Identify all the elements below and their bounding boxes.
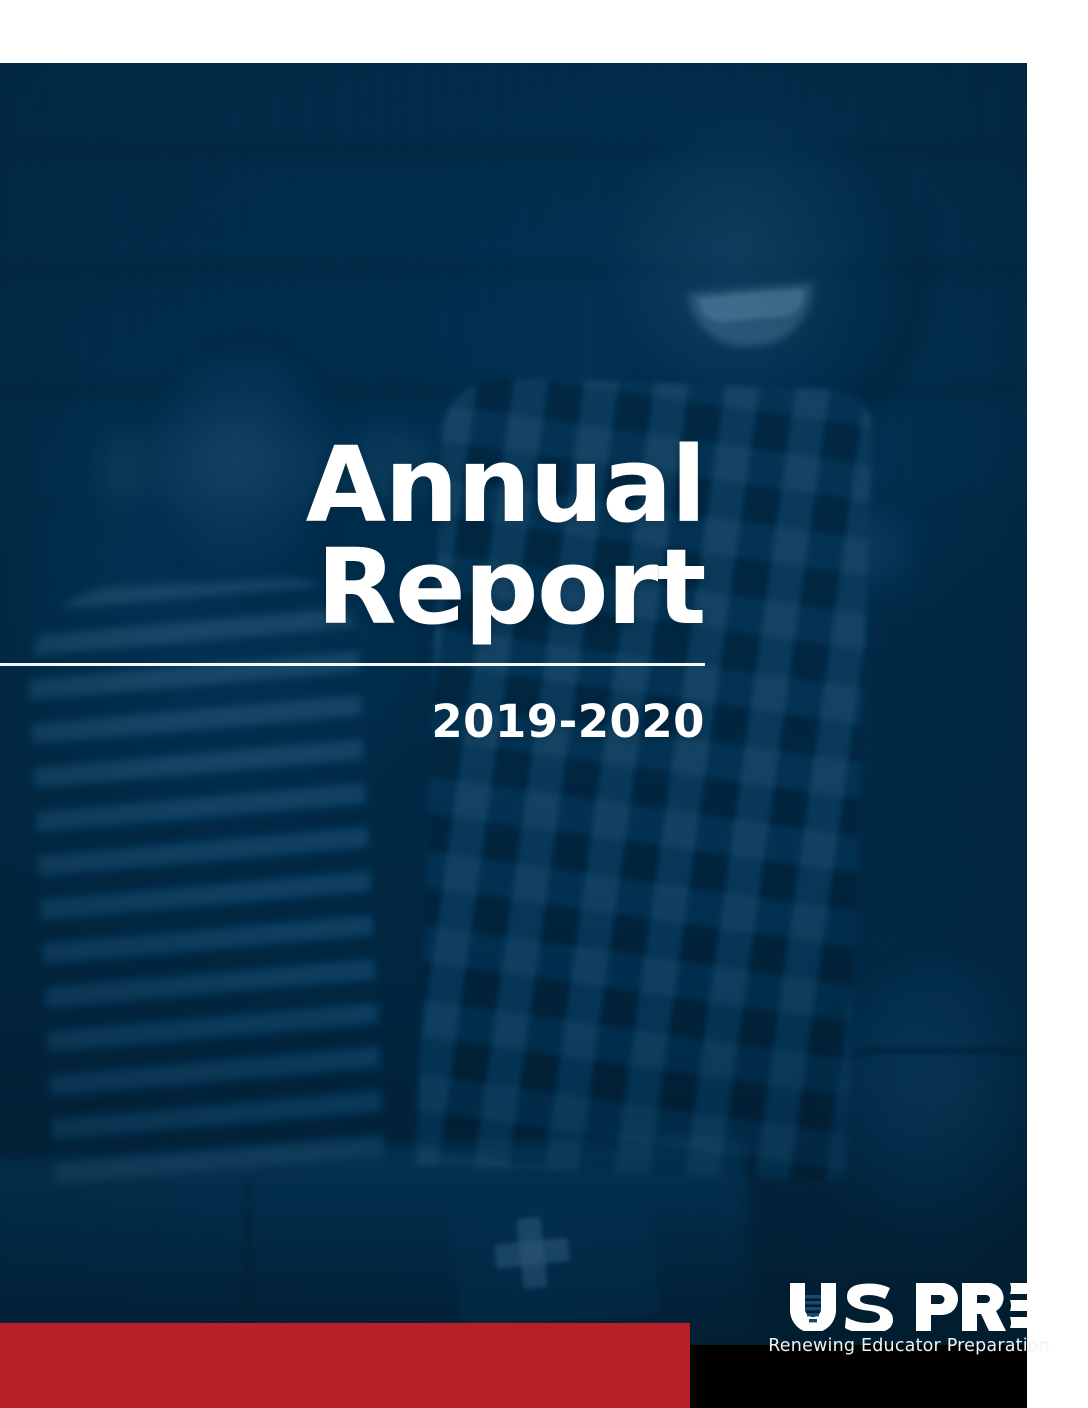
logo-tagline: Renewing Educator Preparation — [768, 1336, 1050, 1356]
us-prep-wordmark — [768, 1281, 1050, 1331]
year-range-label: 2019-2020 — [0, 695, 705, 748]
us-prep-logo: Renewing Educator Preparation — [768, 1281, 1050, 1356]
title-divider-rule — [0, 663, 705, 666]
right-white-margin — [1027, 0, 1088, 1408]
cover-text-block: Annual Report 2019-2020 — [0, 0, 705, 748]
page-title: Annual Report — [0, 435, 705, 639]
title-line-2: Report — [0, 537, 705, 639]
bottom-red-bar — [0, 1323, 690, 1408]
us-prep-wordmark-icon — [788, 1281, 1050, 1331]
title-line-1: Annual — [0, 435, 705, 537]
report-cover-page: Annual Report 2019-2020 — [0, 0, 1088, 1408]
